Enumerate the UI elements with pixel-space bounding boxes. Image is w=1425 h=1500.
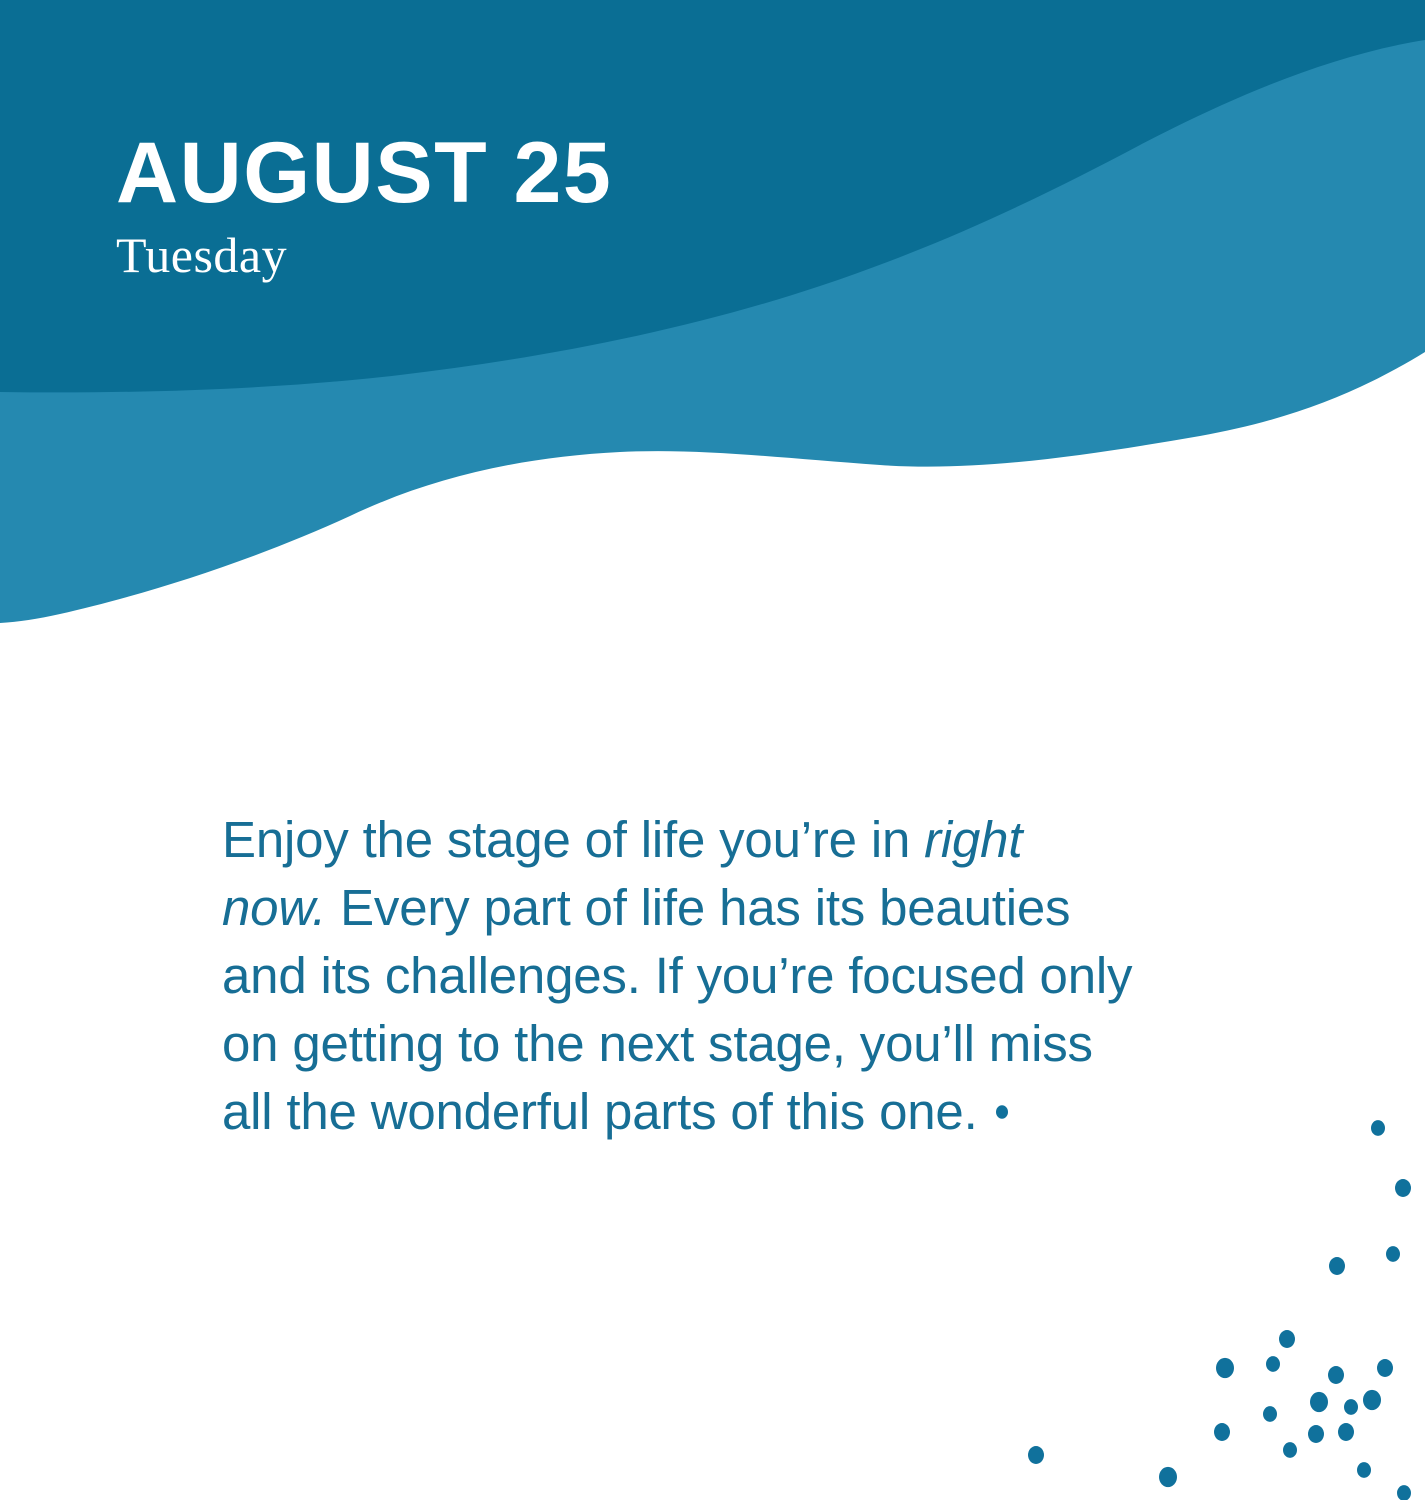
scatter-dot <box>1216 1358 1234 1378</box>
scatter-dot <box>1159 1467 1177 1487</box>
scatter-dot <box>1310 1392 1328 1412</box>
scatter-dot <box>1344 1399 1358 1415</box>
header-block: AUGUST 25 Tuesday <box>116 128 1016 284</box>
scatter-dot <box>1338 1423 1354 1441</box>
wave-band-decoration <box>0 0 1425 640</box>
quote-block: Enjoy the stage of life you’re in rightn… <box>222 806 1182 1146</box>
quote-line-3: and its challenges. If you’re focused on… <box>222 942 1182 1010</box>
scatter-dot <box>1371 1120 1385 1136</box>
scatter-dot <box>1214 1423 1230 1441</box>
scatter-dot <box>1363 1390 1381 1410</box>
page-subtitle-weekday: Tuesday <box>116 226 1016 284</box>
scatter-dot <box>1377 1359 1393 1377</box>
scatter-dot <box>1266 1356 1280 1372</box>
scatter-dot <box>1263 1406 1277 1422</box>
scatter-dot <box>1028 1446 1044 1464</box>
quote-line-5: all the wonderful parts of this one. <box>222 1078 1182 1146</box>
scatter-dot <box>1395 1179 1411 1197</box>
quote-line-1: Enjoy the stage of life you’re in right <box>222 806 1182 874</box>
scatter-dot <box>1279 1330 1295 1348</box>
scatter-dot <box>1329 1257 1345 1275</box>
scatter-dot <box>1308 1425 1324 1443</box>
quote-line-2: now. Every part of life has its beauties <box>222 874 1182 942</box>
wave-light-shape <box>0 0 1425 623</box>
scatter-dot <box>1386 1246 1400 1262</box>
page-title-date: AUGUST 25 <box>116 128 1016 218</box>
quote-text: Enjoy the stage of life you’re in rightn… <box>222 806 1182 1146</box>
scatter-dot <box>1283 1442 1297 1458</box>
quote-line-4: on getting to the next stage, you’ll mis… <box>222 1010 1182 1078</box>
scatter-dot <box>1397 1485 1411 1500</box>
calendar-page: AUGUST 25 Tuesday Enjoy the stage of lif… <box>0 0 1425 1500</box>
scatter-dot <box>1357 1462 1371 1478</box>
scatter-dot <box>1328 1366 1344 1384</box>
